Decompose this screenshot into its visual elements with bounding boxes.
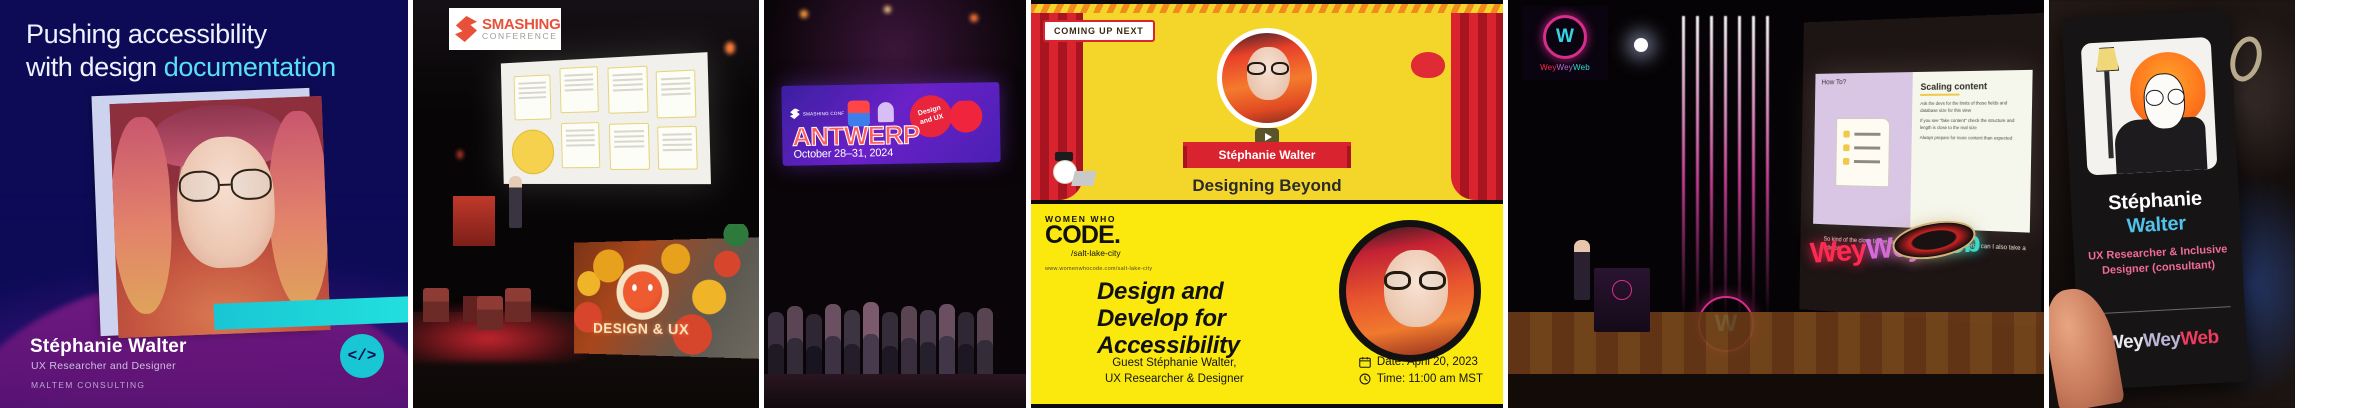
slide-right-column: Scaling content Ask the devs for the lim… [1910, 70, 2032, 233]
promo-title: Designing Beyond the Happy Path [1031, 176, 1503, 200]
mascot-icon [946, 100, 987, 145]
brand-part-b: Wey [2143, 329, 2181, 352]
calendar-icon [1359, 356, 1371, 368]
guest-line1: Guest Stéphanie Walter, [1112, 357, 1236, 369]
curtain-right [1451, 13, 1503, 200]
badge-role-line2: Designer (consultant) [2102, 259, 2216, 277]
code-badge-icon: </> [340, 334, 384, 378]
photo-strip: Pushing accessibility with design docume… [0, 0, 2380, 408]
title-underline [1920, 94, 1959, 96]
smashing-logo-subtitle: CONFERENCE [482, 32, 560, 41]
brand-part-b: Wey [1557, 63, 1573, 72]
stage-light [725, 42, 735, 54]
event-dates: October 28–31, 2024 [793, 147, 893, 161]
org-url: www.womenwhocode.com/salt-lake-city [1045, 266, 1152, 272]
stage-floor [764, 374, 1026, 408]
promo-title-line2: the Happy Path [1205, 197, 1329, 200]
org-line2: CODE. [1045, 224, 1121, 248]
promo-title-line1: Designing Beyond [1192, 176, 1341, 195]
projection-screen [501, 52, 711, 184]
face [175, 135, 277, 270]
brand-part-c: Web [1573, 63, 1590, 72]
sticky-note [561, 122, 600, 168]
mascot-badge [617, 264, 669, 320]
stage-light [457, 150, 463, 159]
podium [453, 196, 495, 246]
speaker-name: Stéphanie Walter [30, 336, 187, 358]
sticky-note [657, 126, 698, 170]
badge-role: UX Researcher & Inclusive Designer (cons… [2088, 242, 2229, 279]
sticky-note [559, 66, 598, 113]
backdrop-circle [661, 243, 690, 274]
speaker-avatar [1217, 28, 1317, 128]
neon-part-a: Wey [1809, 234, 1867, 270]
slide-left-title: How To? [1822, 79, 1847, 86]
event-meta: Date: April 20, 2023 Time: 11:00 am MST [1359, 354, 1483, 389]
panel-smashing-stage: SMASHING CONFERENCE [413, 0, 759, 408]
antwerp-banner: SMASHING CONF Designand UX ANTWERP Octob… [781, 82, 1000, 166]
podium-logo-icon [1612, 280, 1632, 300]
slide-left-column: How To? [1813, 72, 1913, 228]
speaker-portrait [1339, 220, 1481, 362]
document-icon [1835, 118, 1890, 187]
women-who-code-logo: WOMEN WHO CODE. /salt-lake-city [1045, 214, 1121, 258]
backdrop-text: DESIGN & UX [593, 320, 689, 338]
sticky-note [609, 123, 650, 170]
slide-bullet: Ask the devs for the limits of those fie… [1920, 100, 2024, 114]
sticky-note [607, 66, 648, 114]
slide-bullets: Ask the devs for the limits of those fie… [1920, 100, 2024, 143]
promo-women-who-code: WOMEN WHO CODE. /salt-lake-city www.wome… [1031, 204, 1503, 404]
stage-chair [505, 288, 531, 322]
glasses-icon [1247, 62, 1289, 76]
weyweyweb-sign: W WeyWeyWeb [1522, 6, 1608, 80]
slide-bullet: Always prepare for more content than exp… [1920, 135, 2023, 142]
promo-title-line2: Develop for [1097, 305, 1226, 332]
stage-light [970, 14, 978, 22]
podium [1594, 268, 1650, 332]
guest-line2: UX Researcher & Designer [1105, 373, 1244, 385]
smashing-logo-small: SMASHING CONF [790, 107, 846, 120]
panel-promo-graphics: COMING UP NEXT Stéphanie Walter Designin… [1031, 0, 1503, 408]
sign-brand: WeyWeyWeb [1540, 63, 1590, 72]
guest-credit: Guest Stéphanie Walter, UX Researcher & … [1105, 355, 1244, 388]
avatar-sticker [2081, 37, 2218, 176]
slide-title-line2a: with design [26, 52, 164, 82]
speaker-ribbon: Stéphanie Walter [1183, 142, 1351, 168]
clock-icon [1359, 373, 1371, 385]
event-time-row: Time: 11:00 am MST [1359, 371, 1483, 388]
bird-icon [1411, 52, 1445, 78]
banner-logo-text: SMASHING CONF [803, 110, 844, 116]
light-beams [1676, 16, 1786, 316]
speaker-figure [1574, 240, 1590, 300]
slide-right-title: Scaling content [1920, 80, 2024, 92]
smashing-cat-icon [790, 108, 800, 119]
glasses-icon [1384, 271, 1445, 290]
plant-icon [719, 224, 753, 258]
event-time-label: Time: 11:00 am MST [1377, 371, 1483, 388]
event-date-label: Date: April 20, 2023 [1377, 354, 1478, 371]
speaker-figure [509, 176, 522, 228]
stage-floor [1508, 374, 2044, 408]
coming-up-next-label: COMING UP NEXT [1043, 20, 1155, 42]
glasses-icon [2146, 88, 2186, 106]
top-stripe [1031, 4, 1503, 13]
panel-conference-badge: Stéphanie Walter UX Researcher & Inclusi… [2049, 0, 2295, 408]
brand-part-a: Wey [1540, 63, 1556, 72]
slide-bullet: If you see "fake content" check the stru… [1920, 118, 2024, 132]
company-name: MALTEM CONSULTING [31, 380, 145, 390]
promo-title: Design and Develop for Accessibility [1097, 278, 1240, 359]
snowman-icon [1049, 152, 1095, 190]
sticky-note [514, 74, 552, 120]
stage-spotlight [1634, 38, 1648, 52]
stage-chair [423, 288, 449, 322]
panel-antwerp-audience: SMASHING CONF Designand UX ANTWERP Octob… [764, 0, 1026, 408]
org-chapter: /salt-lake-city [1071, 248, 1121, 258]
brand-part-c: Web [2180, 327, 2219, 350]
panel-weyweyweb-stage: W WeyWeyWeb W How To? [1508, 0, 2044, 408]
stage-light [884, 6, 891, 13]
smiley-icon [623, 271, 662, 313]
event-date-row: Date: April 20, 2023 [1359, 354, 1483, 371]
slide-title-line1: Pushing accessibility [26, 19, 267, 49]
logo-letter: W [1556, 26, 1574, 48]
promo-title-line1: Design and [1097, 278, 1223, 305]
presentation-slide: How To? Scaling content Ask the devs for… [1813, 70, 2033, 233]
sticky-note-highlight [511, 129, 554, 174]
stage-light [800, 10, 808, 18]
smashing-logo: SMASHING CONFERENCE [449, 8, 561, 50]
stage-chair [477, 296, 503, 330]
glasses-icon [178, 168, 272, 202]
smashing-logo-title: SMASHING [482, 17, 560, 32]
sticky-note [656, 69, 697, 118]
weyweyweb-logo-icon: W [1543, 15, 1587, 59]
slide-title-line2b: documentation [164, 52, 336, 82]
street-lamp-icon [2104, 63, 2114, 158]
speaker-role: UX Researcher and Designer [31, 360, 176, 372]
panel-title-slide: Pushing accessibility with design docume… [0, 0, 408, 408]
divider [2091, 306, 2231, 314]
slide-title: Pushing accessibility with design docume… [26, 18, 390, 84]
backdrop-circle [692, 279, 726, 314]
smashing-cat-icon [455, 16, 477, 42]
promo-coming-up-next: COMING UP NEXT Stéphanie Walter Designin… [1031, 4, 1503, 200]
projection-wall: How To? Scaling content Ask the devs for… [1799, 13, 2044, 327]
